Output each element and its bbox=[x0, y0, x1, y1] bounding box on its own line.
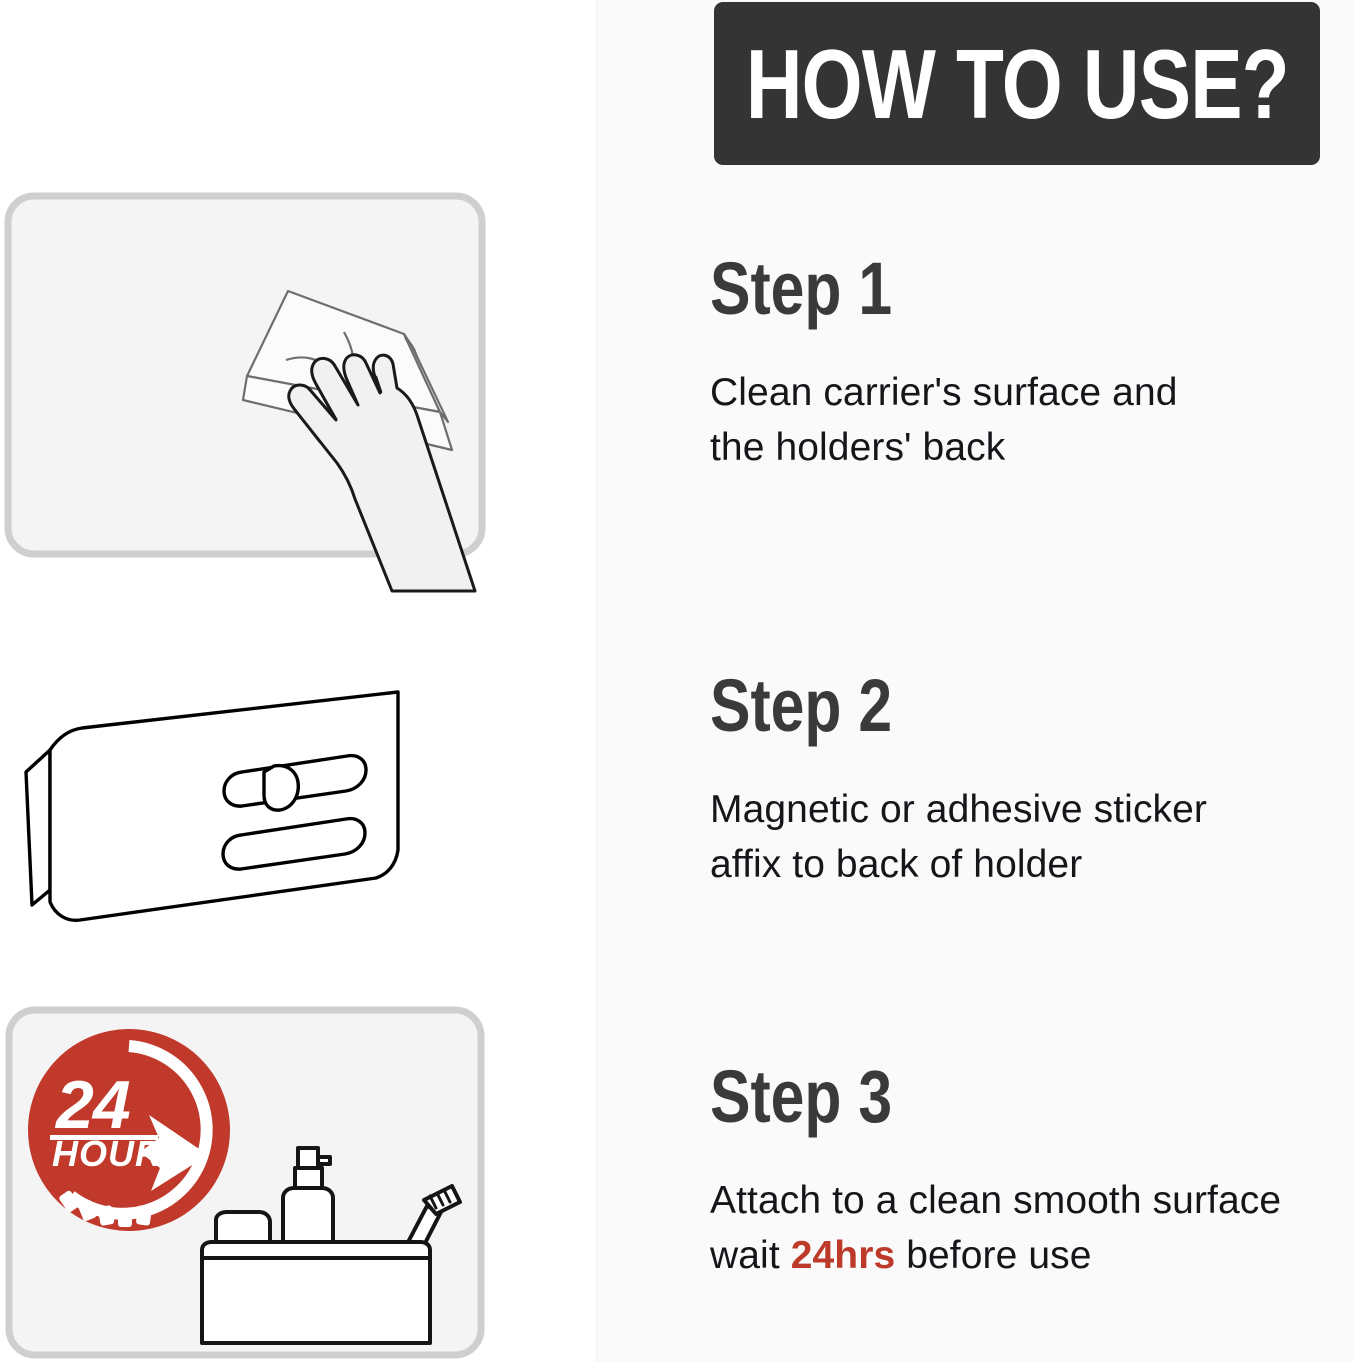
how-to-use-infographic: 24 HOURS bbox=[0, 0, 1354, 1362]
step-2-heading: Step 2 bbox=[710, 672, 1243, 740]
step-3-block: Step 3 Attach to a clean smooth surface … bbox=[710, 1063, 1354, 1283]
step-3-illustration: 24 HOURS bbox=[0, 1000, 510, 1362]
illustration-column: 24 HOURS bbox=[0, 0, 597, 1362]
step-3-heading: Step 3 bbox=[710, 1063, 1243, 1131]
how-to-use-title-box: HOW TO USE? bbox=[714, 2, 1320, 165]
step-1-illustration bbox=[0, 186, 520, 606]
step-1-heading: Step 1 bbox=[710, 255, 1243, 323]
step-2-block: Step 2 Magnetic or adhesive sticker affi… bbox=[710, 672, 1354, 892]
step-1-body: Clean carrier's surface and the holders'… bbox=[710, 323, 1354, 475]
step-2-body-text: Magnetic or adhesive sticker affix to ba… bbox=[710, 788, 1207, 886]
step-2-illustration bbox=[10, 650, 490, 940]
twenty-four-hours-badge: 24 HOURS bbox=[28, 1029, 230, 1231]
step-1-block: Step 1 Clean carrier's surface and the h… bbox=[710, 255, 1354, 475]
step-3-body-text-after: before use bbox=[895, 1234, 1091, 1277]
step-3-body: Attach to a clean smooth surface wait 24… bbox=[710, 1131, 1354, 1283]
step-1-body-text: Clean carrier's surface and the holders'… bbox=[710, 371, 1178, 469]
step-3-highlight-24hrs: 24hrs bbox=[791, 1234, 896, 1277]
page-title: HOW TO USE? bbox=[746, 35, 1289, 133]
step-2-body: Magnetic or adhesive sticker affix to ba… bbox=[710, 740, 1354, 892]
steps-column: HOW TO USE? Step 1 Clean carrier's surfa… bbox=[597, 0, 1354, 1362]
svg-text:24: 24 bbox=[54, 1067, 130, 1143]
